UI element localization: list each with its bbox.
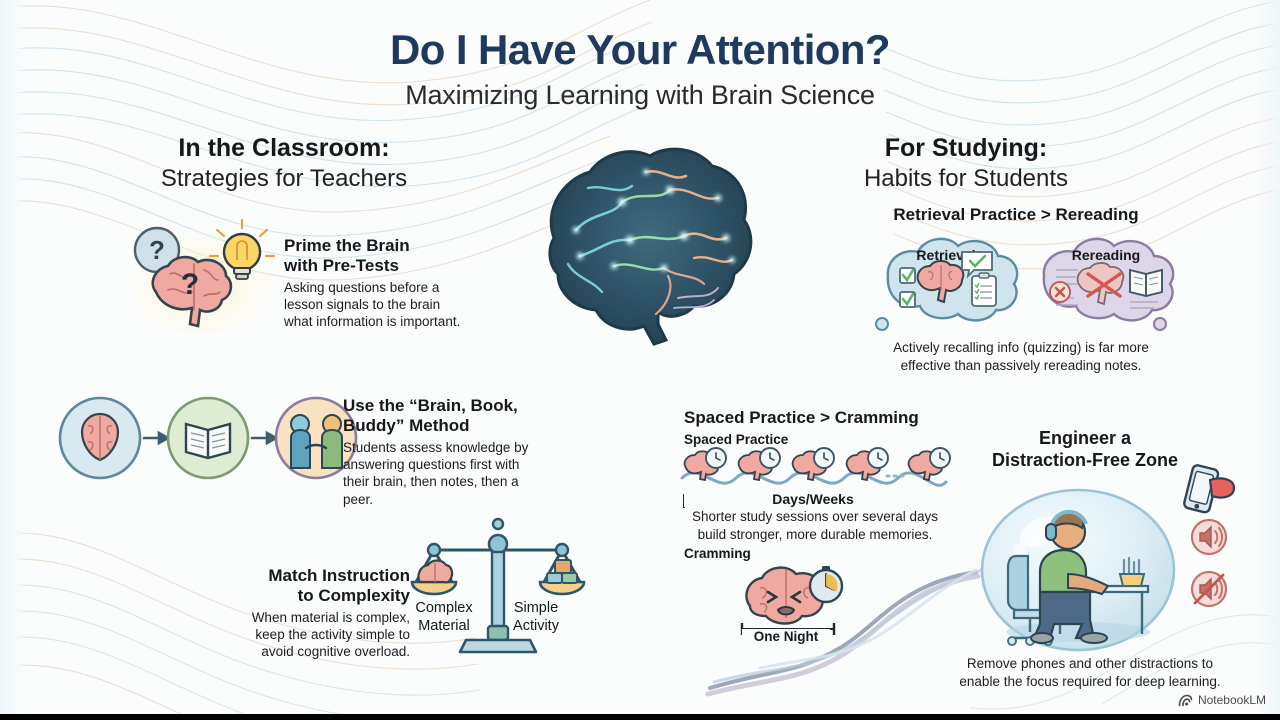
scale-right-line2: Activity — [500, 618, 572, 636]
prime-body: Asking questions before a lesson signals… — [284, 279, 469, 331]
match-instruction-text-block: Match Instruction to Complexity When mat… — [240, 566, 410, 661]
zone-caption-line2: enable the focus required for deep learn… — [940, 673, 1240, 691]
bbb-body: Students assess knowledge by answering q… — [343, 439, 543, 508]
spaced-practice-caption: Shorter study sessions over several days… — [672, 508, 958, 543]
scale-right-label: Simple Activity — [500, 600, 572, 635]
blocked-phone-icon — [1180, 464, 1236, 516]
sound-on-icon — [1190, 518, 1228, 556]
brain-book-buddy-flow-icon — [56, 392, 336, 484]
retrieval-caption: Actively recalling info (quizzing) is fa… — [866, 339, 1176, 374]
match-body: When material is complex, keep the activ… — [240, 609, 410, 661]
distraction-free-bubble-icon — [978, 474, 1178, 654]
poster-title: Do I Have Your Attention? — [0, 26, 1280, 74]
prime-the-brain-text-block: Prime the Brain with Pre-Tests Asking qu… — [284, 236, 469, 331]
zone-title: Engineer a Distraction-Free Zone — [975, 428, 1195, 471]
sound-off-icon — [1190, 570, 1228, 608]
retrieval-subheading: Retrieval Practice > Rereading — [846, 205, 1186, 225]
scale-left-line2: Material — [408, 618, 480, 636]
scale-left-line1: Complex — [408, 600, 480, 618]
infographic-poster: Do I Have Your Attention? Maximizing Lea… — [0, 0, 1280, 714]
brain-question-lightbulb-icon: ? ? — [124, 214, 288, 339]
notebooklm-watermark: NotebookLM — [1178, 693, 1266, 707]
zone-caption-line1: Remove phones and other distractions to — [940, 655, 1240, 673]
retrieval-caption-line2: effective than passively rereading notes… — [866, 357, 1176, 375]
left-column-heading: In the Classroom: Strategies for Teacher… — [74, 134, 494, 193]
match-title-line2: to Complexity — [240, 586, 410, 606]
bottom-letterbox-bar — [0, 714, 1280, 720]
spacing-subheading: Spaced Practice > Cramming — [684, 408, 984, 428]
spaced-caption-line1: Shorter study sessions over several days — [672, 508, 958, 526]
prime-title-line1: Prime the Brain — [284, 236, 469, 256]
match-title-line1: Match Instruction — [240, 566, 410, 586]
scale-right-line1: Simple — [500, 600, 572, 618]
brain-book-buddy-text-block: Use the “Brain, Book, Buddy” Method Stud… — [343, 396, 543, 508]
notebooklm-label: NotebookLM — [1198, 693, 1266, 707]
glowing-neural-brain-icon — [518, 128, 768, 378]
rereading-bubble-label: Rereading — [1072, 247, 1140, 263]
left-heading-line2: Strategies for Teachers — [74, 164, 494, 193]
bbb-title-line1: Use the “Brain, Book, — [343, 396, 543, 416]
svg-text:?: ? — [149, 235, 165, 265]
zone-title-line1: Engineer a — [975, 428, 1195, 450]
prime-title-line2: with Pre-Tests — [284, 256, 469, 276]
retrieval-caption-line1: Actively recalling info (quizzing) is fa… — [866, 339, 1176, 357]
bbb-title-line2: Buddy” Method — [343, 416, 543, 436]
retrieval-vs-rereading-bubbles-icon: Retrieval Rereading — [858, 226, 1184, 344]
zone-title-line2: Distraction-Free Zone — [975, 450, 1195, 472]
spaced-practice-label: Spaced Practice — [684, 432, 788, 447]
right-heading-line1: For Studying: — [756, 134, 1176, 164]
zone-caption: Remove phones and other distractions to … — [940, 655, 1240, 690]
spaced-caption-line2: build stronger, more durable memories. — [672, 526, 958, 544]
right-column-heading: For Studying: Habits for Students — [756, 134, 1176, 193]
notebooklm-logo-icon — [1178, 694, 1193, 707]
svg-text:?: ? — [181, 268, 199, 301]
right-heading-line2: Habits for Students — [756, 164, 1176, 193]
scale-left-label: Complex Material — [408, 600, 480, 635]
days-weeks-label: Days/Weeks — [684, 491, 942, 507]
balance-scale-icon — [408, 518, 588, 658]
left-heading-line1: In the Classroom: — [74, 134, 494, 164]
poster-subtitle: Maximizing Learning with Brain Science — [0, 80, 1280, 111]
